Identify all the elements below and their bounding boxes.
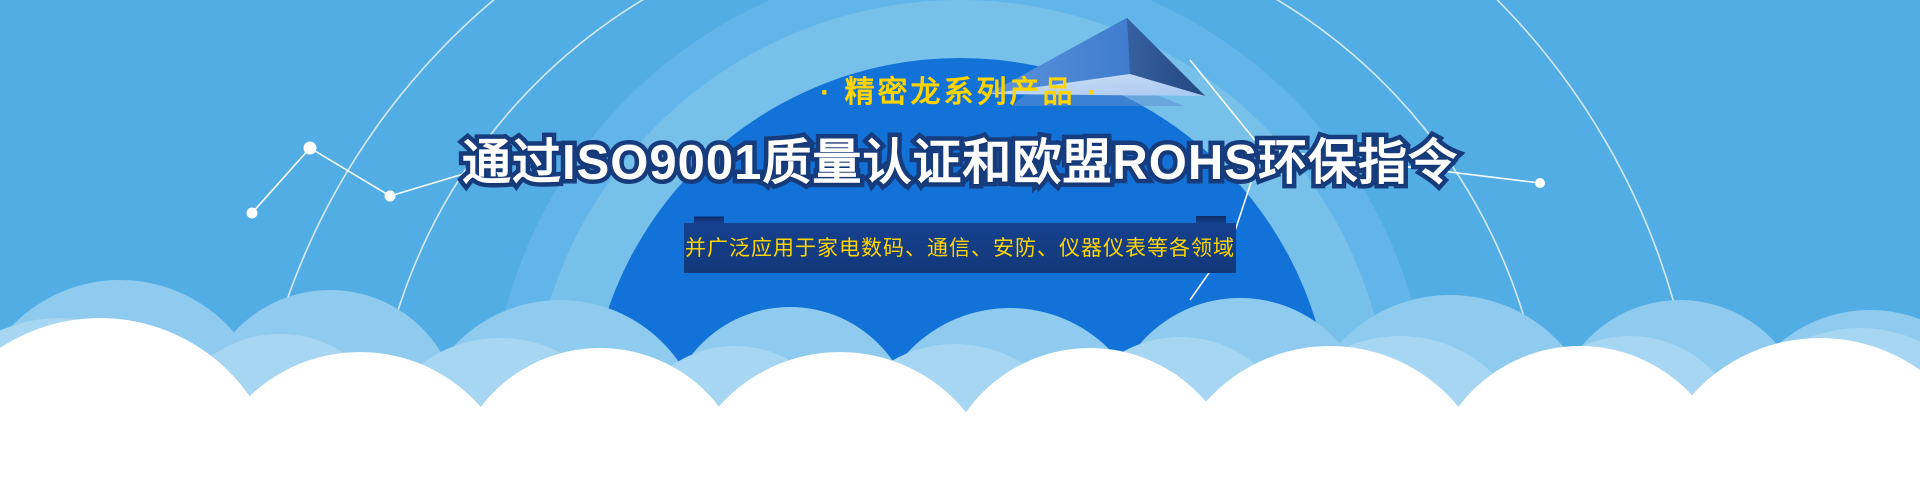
banner-background-art — [0, 0, 1920, 480]
promo-banner: · 精密龙系列产品 · 通过ISO9001质量认证和欧盟ROHS环保指令 并广泛… — [0, 0, 1920, 480]
